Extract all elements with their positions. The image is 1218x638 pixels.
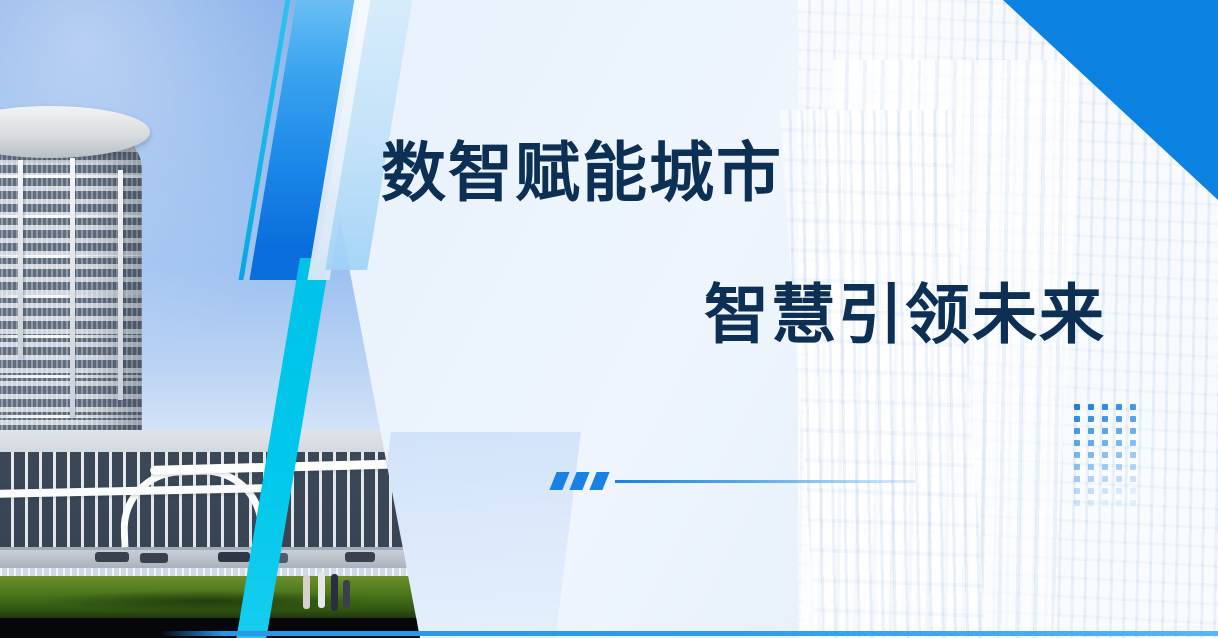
headline-line-1: 数智赋能城市 xyxy=(381,140,783,205)
dot xyxy=(1074,440,1080,446)
dot xyxy=(1088,476,1094,482)
dot xyxy=(1074,416,1080,422)
dot xyxy=(1116,476,1122,482)
dot xyxy=(1130,428,1136,434)
dot xyxy=(1130,404,1136,410)
dot xyxy=(1074,476,1080,482)
decorative-rule xyxy=(553,472,915,490)
dot xyxy=(1130,488,1136,494)
decorative-line xyxy=(615,480,915,483)
dot xyxy=(1088,428,1094,434)
dot xyxy=(1116,428,1122,434)
dot xyxy=(1088,500,1094,506)
dot xyxy=(1116,404,1122,410)
dot-grid-decoration xyxy=(1074,404,1144,512)
dot xyxy=(1130,440,1136,446)
dot xyxy=(1102,440,1108,446)
dot xyxy=(1102,452,1108,458)
dot xyxy=(1074,464,1080,470)
dot xyxy=(1130,476,1136,482)
dot xyxy=(1102,416,1108,422)
dot xyxy=(1116,464,1122,470)
dot xyxy=(1116,452,1122,458)
headline-line-2: 智慧引领未来 xyxy=(704,282,1106,347)
dot xyxy=(1102,476,1108,482)
dot xyxy=(1116,488,1122,494)
dot xyxy=(1130,416,1136,422)
title-block: 数智赋能城市 智慧引领未来 xyxy=(0,0,1218,638)
slash-mark-icon xyxy=(549,472,569,490)
dot xyxy=(1102,500,1108,506)
dot xyxy=(1130,464,1136,470)
dot xyxy=(1116,440,1122,446)
dot xyxy=(1088,488,1094,494)
dot xyxy=(1116,416,1122,422)
bottom-accent-line xyxy=(160,631,1218,636)
dot xyxy=(1130,500,1136,506)
dot xyxy=(1088,416,1094,422)
dot xyxy=(1074,452,1080,458)
dot xyxy=(1102,464,1108,470)
dot xyxy=(1074,428,1080,434)
dot xyxy=(1074,500,1080,506)
dot xyxy=(1102,428,1108,434)
dot xyxy=(1102,404,1108,410)
dot xyxy=(1088,404,1094,410)
dot xyxy=(1116,500,1122,506)
dot xyxy=(1074,488,1080,494)
dot xyxy=(1088,464,1094,470)
slash-mark-icon xyxy=(589,472,609,490)
dot xyxy=(1088,440,1094,446)
dot xyxy=(1102,488,1108,494)
dot xyxy=(1088,452,1094,458)
dot xyxy=(1074,404,1080,410)
banner-root: 数智赋能城市 智慧引领未来 xyxy=(0,0,1218,638)
dot xyxy=(1130,452,1136,458)
slash-mark-icon xyxy=(569,472,589,490)
